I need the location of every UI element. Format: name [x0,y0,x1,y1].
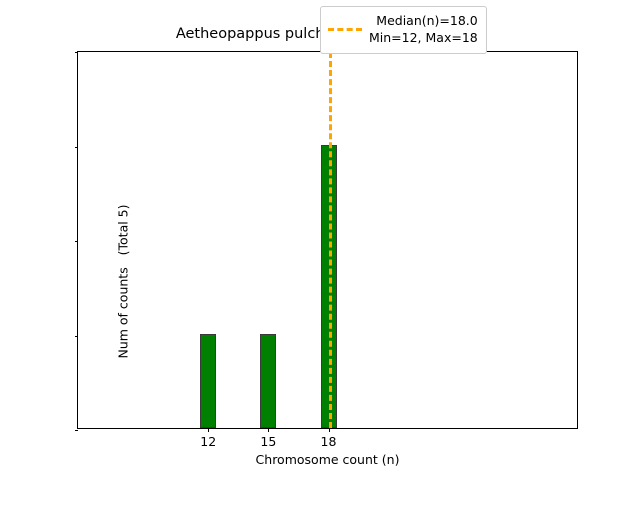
median-line [329,52,332,428]
bar-15 [260,334,276,429]
y-tick-mark-3 [75,147,79,148]
y-tick-mark-1 [75,336,79,337]
legend-label-minmax: Min=12, Max=18 [369,30,478,47]
x-tick-mark-15 [268,428,269,432]
bar-12 [200,334,216,429]
x-tick-mark-18 [329,428,330,432]
legend-label-median: Median(n)=18.0 [376,13,477,30]
y-tick-mark-0 [75,430,79,431]
legend-text-block: Median(n)=18.0 Min=12, Max=18 [369,13,478,47]
chart-figure: Aetheopappus pulcherrimus (Willd.) Cass.… [0,0,640,480]
x-tick-label-15: 15 [248,436,288,449]
chart-legend: Median(n)=18.0 Min=12, Max=18 [320,6,487,54]
x-tick-label-12: 12 [188,436,228,449]
x-tick-label-18: 18 [309,436,349,449]
y-tick-mark-2 [75,241,79,242]
x-tick-mark-12 [208,428,209,432]
y-tick-mark-4 [75,52,79,53]
legend-median-line-icon [328,28,362,31]
x-axis-label: Chromosome count (n) [77,452,578,467]
plot-area [78,52,577,428]
plot-axes: Num of counts (Total 5) 01234121518 [77,51,578,429]
